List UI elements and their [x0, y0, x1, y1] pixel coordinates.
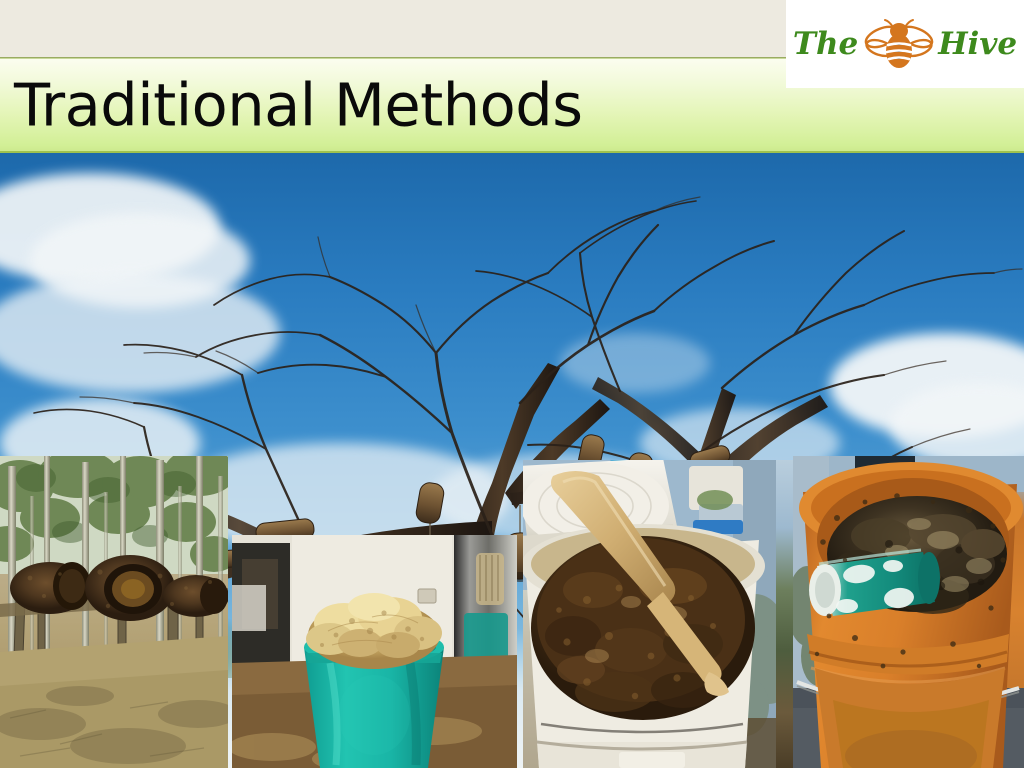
- photo-teal-bucket-honeycomb: [232, 535, 517, 768]
- logo-the-hive[interactable]: The: [786, 0, 1024, 88]
- photo-orange-bucket-scoop: [793, 456, 1024, 768]
- page-title: Traditional Methods: [14, 76, 582, 135]
- logo-word-the: The: [793, 29, 858, 60]
- slide: Traditional Methods: [0, 0, 1024, 768]
- teal-bucket-scene: [232, 535, 517, 768]
- logo-inner: The: [792, 13, 1018, 75]
- photo-forest-log-hives: [0, 456, 228, 768]
- photo-white-bucket-crushed-comb: [523, 460, 780, 768]
- bee-icon: [862, 18, 936, 70]
- logo-word-hive: Hive: [938, 29, 1017, 60]
- white-bucket-scene: [523, 460, 780, 768]
- orange-bucket-scene: [793, 456, 1024, 768]
- forest-scene: [0, 456, 228, 768]
